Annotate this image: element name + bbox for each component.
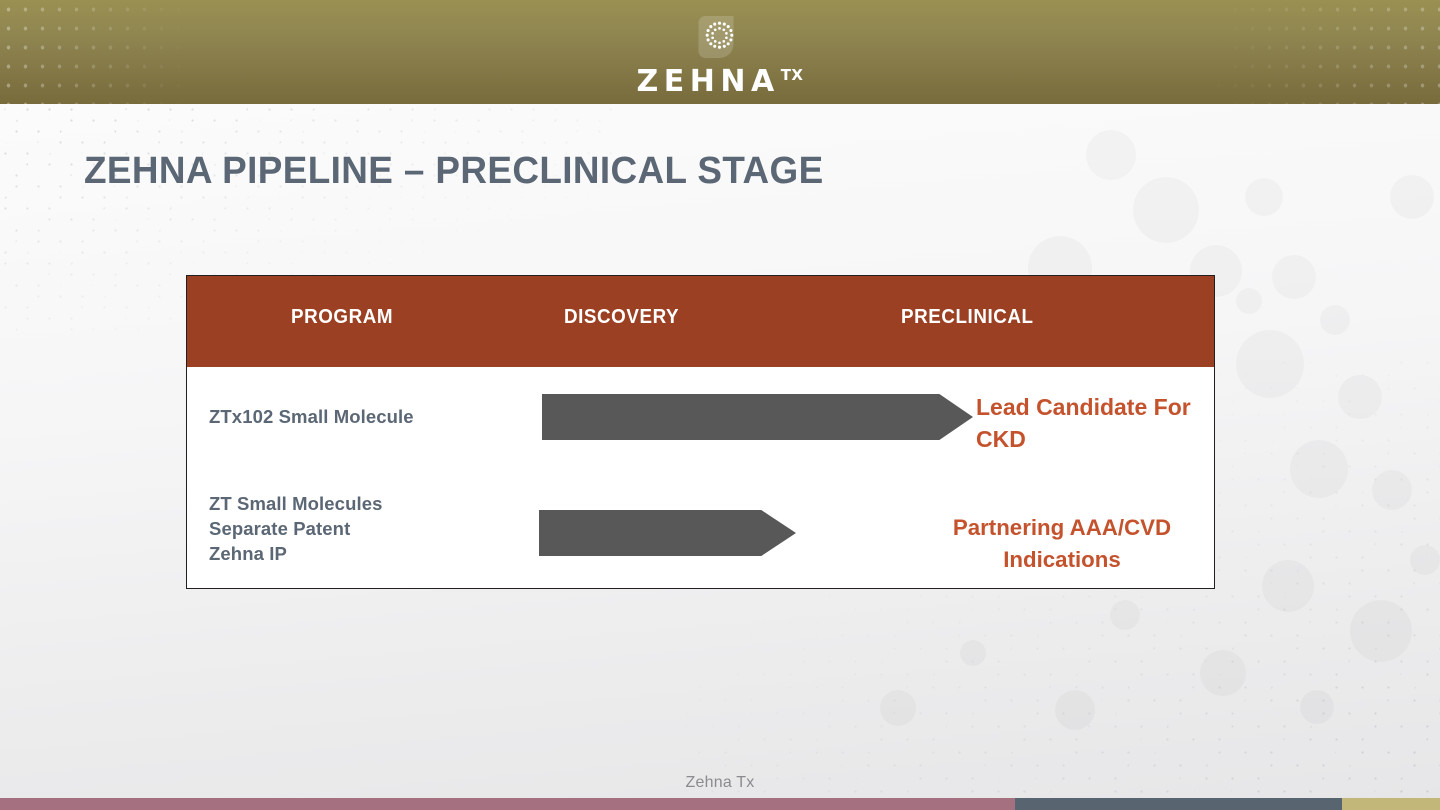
column-header-discovery: DISCOVERY <box>564 306 679 329</box>
footer-text: Zehna Tx <box>0 774 1440 792</box>
wordmark-suffix: TX <box>781 68 804 83</box>
brand-wordmark: ZEHNA TX <box>637 67 804 97</box>
banner-dots-right <box>1210 0 1440 104</box>
program-name: ZTx102 Small Molecule <box>209 404 414 429</box>
brand-banner: ZEHNA TX <box>0 0 1440 104</box>
pipeline-table-header: PROGRAM DISCOVERY PRECLINICAL <box>187 276 1214 367</box>
table-row: ZTx102 Small Molecule Lead Candidate For… <box>187 367 1214 477</box>
brand-logo: ZEHNA TX <box>637 14 804 97</box>
zehna-dot-ring-logo-icon <box>697 14 743 60</box>
column-header-program: PROGRAM <box>291 306 393 329</box>
outcome-label: Lead Candidate For CKD <box>976 391 1206 455</box>
outcome-label: Partnering AAA/CVD Indications <box>918 512 1205 576</box>
pipeline-table-body: ZTx102 Small Molecule Lead Candidate For… <box>187 367 1214 588</box>
program-name: ZT Small MoleculesSeparate PatentZehna I… <box>209 491 383 566</box>
accent-bar-segment-slate <box>1015 798 1342 810</box>
page-title: ZEHNA PIPELINE – PRECLINICAL STAGE <box>84 150 824 193</box>
wordmark-primary: ZEHNA <box>637 67 780 97</box>
accent-bar-segment-mauve <box>0 798 1015 810</box>
bottom-accent-bar <box>0 798 1440 810</box>
discovery-partial-arrow <box>539 510 796 556</box>
table-row: ZT Small MoleculesSeparate PatentZehna I… <box>187 477 1214 588</box>
column-header-preclinical: PRECLINICAL <box>901 306 1034 329</box>
presentation-slide: ZEHNA TX ZEHNA PIPELINE – PRECLINICAL ST… <box>0 0 1440 810</box>
banner-dots-left <box>0 0 190 104</box>
pipeline-table: PROGRAM DISCOVERY PRECLINICAL ZTx102 Sma… <box>186 275 1215 589</box>
discovery-to-preclinical-arrow <box>542 394 973 440</box>
accent-bar-segment-olive <box>1342 798 1440 810</box>
